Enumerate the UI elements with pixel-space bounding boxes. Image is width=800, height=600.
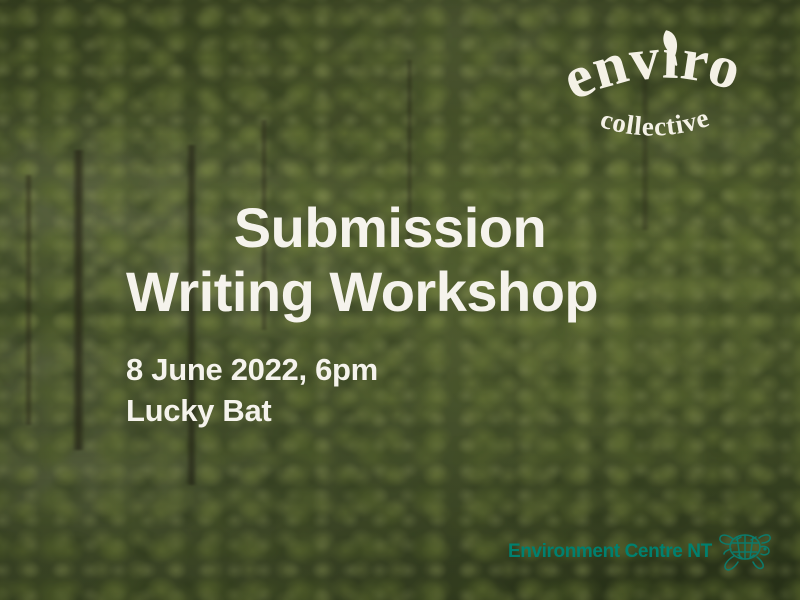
event-title-line-1: Submission: [0, 196, 800, 260]
ecnt-wordmark: Environment Centre NT: [508, 542, 712, 561]
collective-wordmark: collective: [597, 102, 713, 142]
turtle-icon: [718, 527, 774, 575]
event-venue: Lucky Bat: [126, 390, 746, 431]
event-details-block: 8 June 2022, 6pm Lucky Bat: [126, 349, 746, 431]
event-title-line-2: Writing Workshop: [0, 260, 800, 324]
environment-centre-nt-logo: Environment Centre NT: [508, 525, 774, 577]
event-poster: enviro collective Submission Writing Wor…: [0, 0, 800, 600]
headline-block: Submission Writing Workshop: [0, 196, 800, 324]
enviro-collective-logo: enviro collective: [547, 26, 762, 136]
enviro-wordmark: enviro: [552, 24, 749, 112]
event-datetime: 8 June 2022, 6pm: [126, 349, 746, 390]
